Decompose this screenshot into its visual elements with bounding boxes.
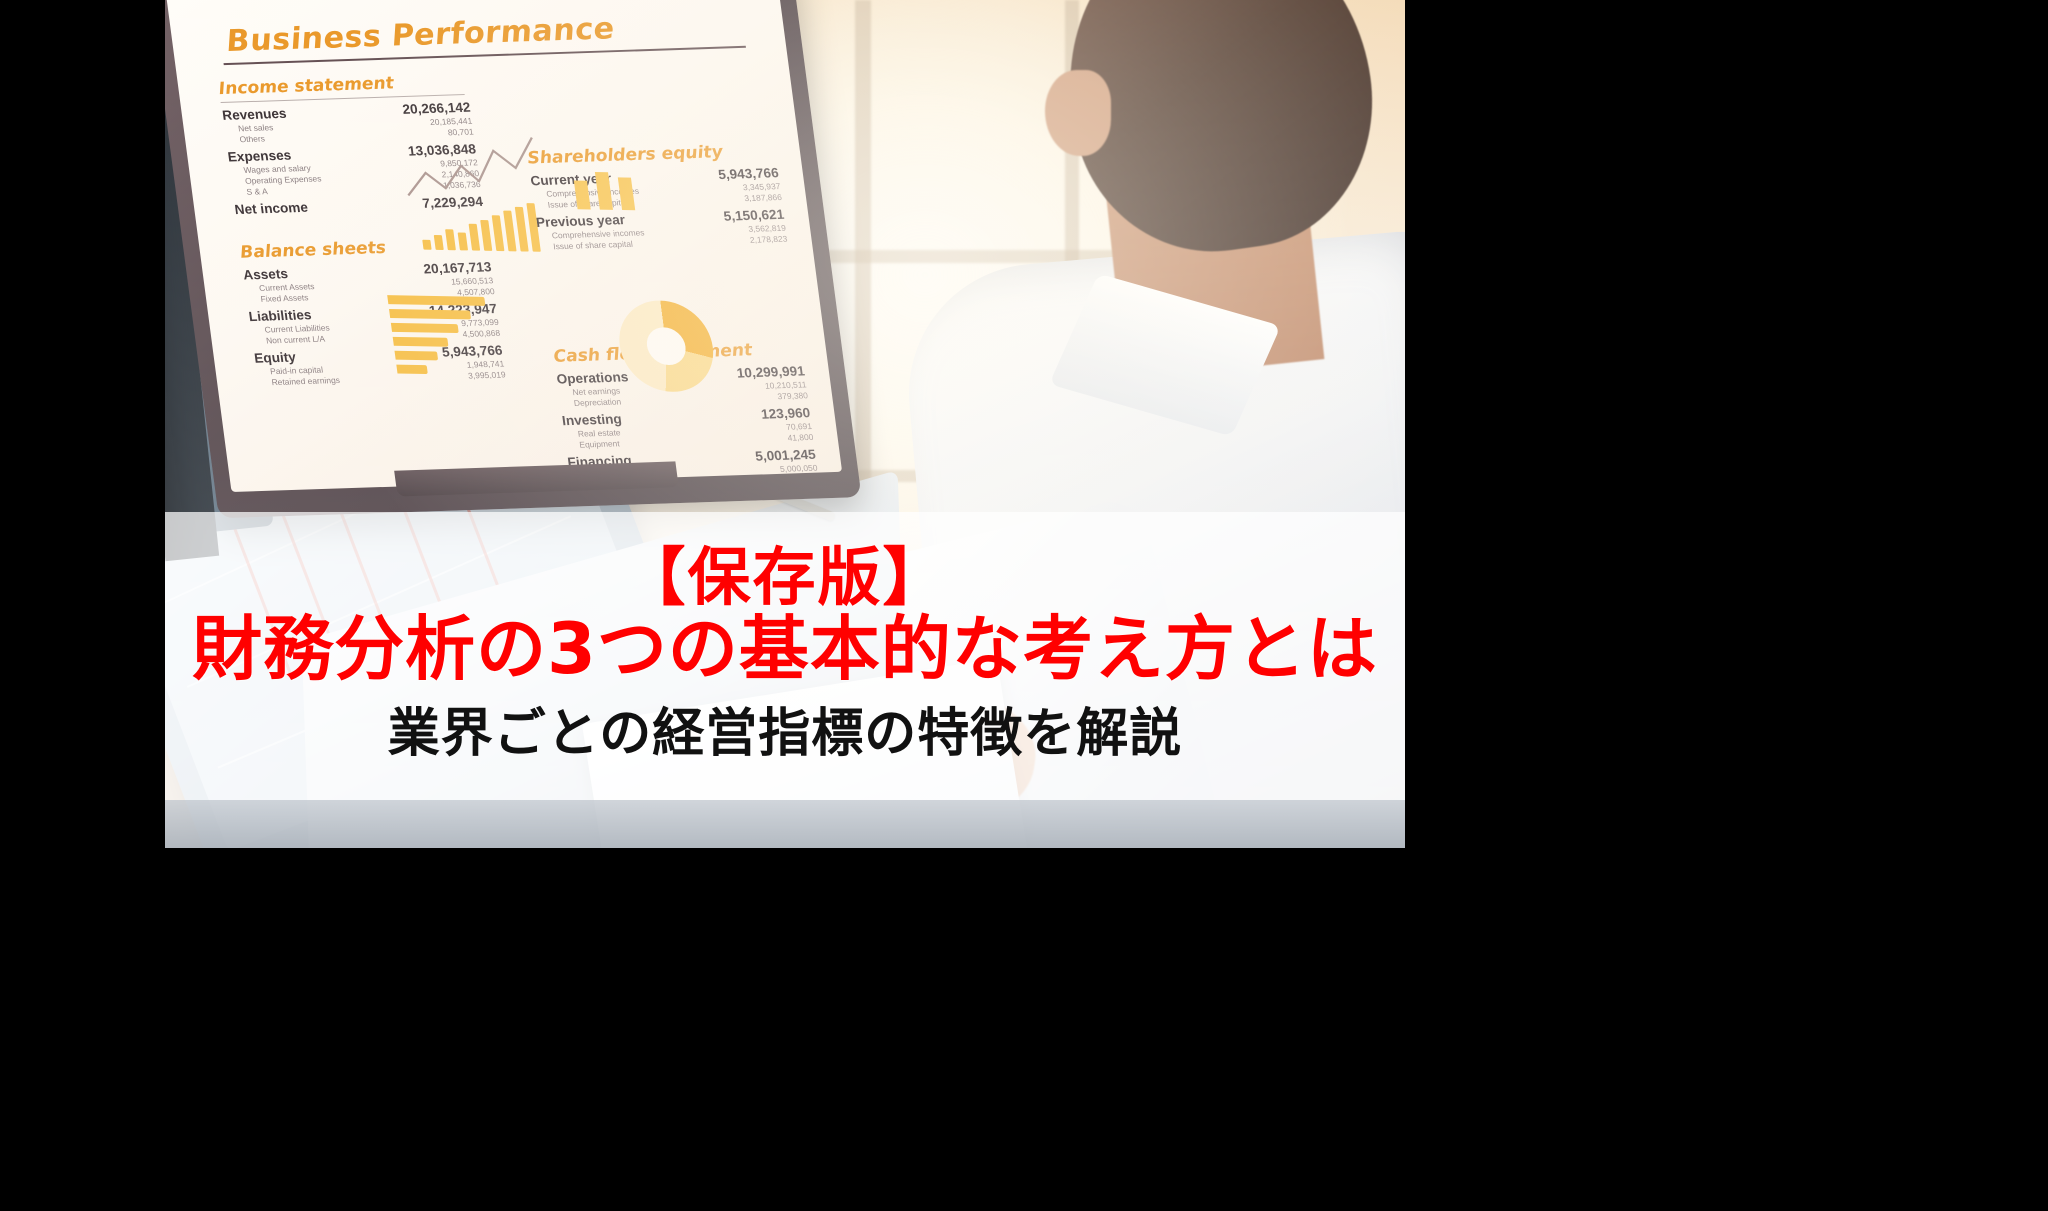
subrow-value: 3,345,937: [742, 181, 781, 192]
row-value: 5,001,245: [754, 447, 816, 464]
subrow-label: Real estate: [577, 427, 621, 438]
subrow-value: 41,800: [787, 432, 814, 443]
row-label: Investing: [561, 411, 622, 428]
row-value: 20,167,713: [423, 259, 493, 276]
subrow-label: Non current L/A: [265, 334, 325, 346]
subrow-label: Net earnings: [572, 386, 621, 397]
row-label: Equity: [253, 350, 296, 366]
balance-sheet-bars: [387, 295, 494, 375]
subrow-value: 379,380: [777, 390, 809, 401]
subrow-value: 20,185,441: [429, 116, 472, 127]
subrow-label: Current Assets: [259, 281, 315, 293]
row-value: 5,150,621: [723, 207, 785, 224]
row-label: Liabilities: [248, 307, 313, 324]
business-report: Business Performance Income statement Re…: [166, 0, 842, 492]
report-column-left: Income statement Revenues20,266,142 Net …: [209, 65, 527, 492]
row-label: Net income: [234, 200, 309, 217]
monitor-display: Business Performance Income statement Re…: [166, 0, 842, 492]
row-value: 20,266,142: [402, 100, 472, 117]
subrow-value: 2,178,823: [749, 234, 788, 245]
photo-bottom-strip: [165, 800, 1405, 848]
title-line-1: 【保存版】: [623, 546, 948, 610]
subrow-label: Equipment: [579, 438, 621, 449]
main-monitor: Business Performance Income statement Re…: [165, 0, 862, 518]
row-label: Expenses: [227, 148, 292, 165]
title-overlay: 【保存版】 財務分析の3つの基本的な考え方とは 業界ごとの経営指標の特徴を解説: [165, 512, 1405, 800]
subrow-value: 10,210,511: [764, 379, 807, 390]
row-label: Assets: [242, 266, 288, 282]
report-title: Business Performance: [224, 6, 767, 59]
subtitle-line: 業界ごとの経営指標の特徴を解説: [388, 691, 1182, 766]
subrow-value: 3,562,819: [748, 223, 787, 234]
income-trend-bars: [414, 180, 540, 252]
subrow-value: 5,000,050: [779, 463, 818, 474]
row-label: Previous year: [535, 212, 626, 230]
screenshot-stage: Business Performance Income statement Re…: [0, 0, 2048, 1211]
title-line-2: 財務分析の3つの基本的な考え方とは: [192, 614, 1378, 685]
subrow-label: Paid-in capital: [269, 365, 323, 377]
subrow-label: Retained earnings: [271, 375, 341, 387]
row-value: 10,299,991: [736, 364, 806, 381]
subrow-label: Net sales: [237, 122, 273, 133]
subrow-value: 3,187,866: [744, 192, 783, 203]
row-label: Operations: [556, 369, 630, 386]
subrow-label: Fixed Assets: [260, 292, 309, 303]
subrow-value: 15,660,513: [450, 275, 493, 286]
subrow-label: S & A: [246, 186, 268, 197]
report-column-right: Shareholders equity Current year5,943,76…: [481, 55, 826, 492]
person-ear: [1045, 70, 1111, 156]
shareholders-equity-bars: [569, 146, 635, 211]
subrow-label: Issue of share capital: [553, 239, 634, 252]
subrow-value: 70,691: [786, 421, 813, 432]
row-label: Revenues: [221, 106, 287, 123]
subrow-label: Others: [239, 133, 266, 144]
subrow-label: Depreciation: [573, 396, 622, 407]
row-value: 123,960: [760, 405, 811, 421]
section-heading-shareholders-equity: Shareholders equity: [526, 140, 783, 168]
row-value: 5,943,766: [717, 165, 779, 182]
